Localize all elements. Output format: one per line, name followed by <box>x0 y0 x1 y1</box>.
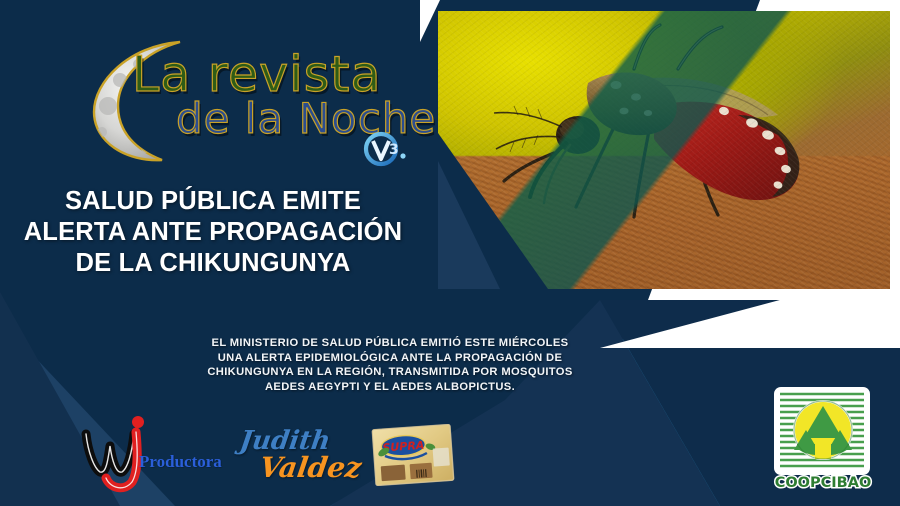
sponsor-logo-coopcibao: COOPCIBAO <box>768 384 882 494</box>
sponsor-logo-wj-productora: Productora <box>76 416 226 496</box>
headline-line-2: ALERTA ANTE PROPAGACIÓN <box>8 217 418 248</box>
judith-last-name: Valdez <box>258 451 364 484</box>
headline: SALUD PÚBLICA EMITE ALERTA ANTE PROPAGAC… <box>8 186 418 279</box>
wj-productora-label: Productora <box>139 452 222 472</box>
body-copy-line-1: EL MINISTERIO DE SALUD PÚBLICA EMITIÓ ES… <box>150 336 630 351</box>
body-copy: EL MINISTERIO DE SALUD PÚBLICA EMITIÓ ES… <box>150 336 630 394</box>
body-copy-line-4: AEDES AEGYPTI Y EL AEDES ALBOPICTUS. <box>150 380 630 395</box>
sponsor-logo-judith-valdez: Judith Valdez <box>234 424 358 488</box>
mosquito-photo <box>438 11 890 289</box>
v3-channel-badge-icon: 3 <box>360 128 410 172</box>
sponsor-logo-supra: SUPRA <box>371 424 455 486</box>
v3-badge-label: 3 <box>389 142 399 158</box>
body-copy-line-3: CHIKUNGUNYA EN LA REGIÓN, TRANSMITIDA PO… <box>150 365 630 380</box>
coopcibao-wordmark: COOPCIBAO <box>775 475 872 491</box>
broadcast-graphic-stage: La revista de la Noche 3 SALUD PÚBLICA E… <box>0 0 900 506</box>
body-copy-line-2: UNA ALERTA EPIDEMIOLÓGICA ANTE LA PROPAG… <box>150 351 630 366</box>
headline-line-1: SALUD PÚBLICA EMITE <box>8 186 418 217</box>
headline-line-3: DE LA CHIKUNGUNYA <box>8 248 418 279</box>
